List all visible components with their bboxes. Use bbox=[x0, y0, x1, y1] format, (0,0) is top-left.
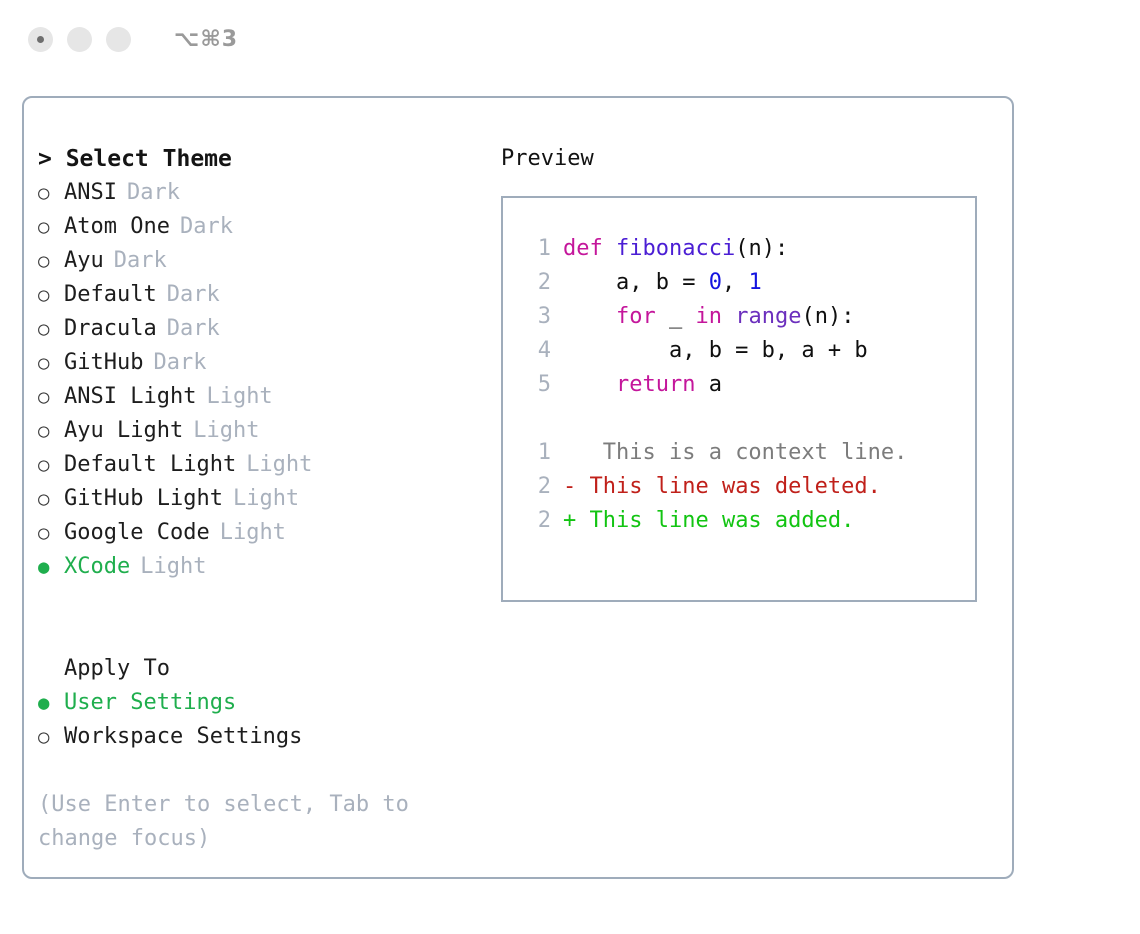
token-plain: a, b = b, a + b bbox=[563, 338, 868, 363]
diff-text: + This line was added. bbox=[563, 504, 854, 538]
radio-selected-icon: ● bbox=[38, 686, 64, 720]
theme-name: Ayu bbox=[64, 244, 104, 278]
apply-to-option-workspace-settings[interactable]: ○Workspace Settings bbox=[38, 720, 478, 754]
theme-name: Ayu Light bbox=[64, 414, 183, 448]
token-fn: fibonacci bbox=[616, 236, 735, 261]
code-text: for _ in range(n): bbox=[563, 300, 854, 334]
token-plain: (n): bbox=[801, 304, 854, 329]
token-plain: _ bbox=[656, 304, 696, 329]
radio-unselected-icon: ○ bbox=[38, 210, 64, 244]
apply-to-label: Workspace Settings bbox=[64, 720, 302, 754]
theme-name: GitHub Light bbox=[64, 482, 223, 516]
token-kw: def bbox=[563, 236, 616, 261]
token-plain bbox=[722, 304, 735, 329]
radio-unselected-icon: ○ bbox=[38, 482, 64, 516]
code-line: 5 return a bbox=[503, 368, 975, 402]
radio-unselected-icon: ○ bbox=[38, 448, 64, 482]
theme-list-column: > Select Theme ○ANSIDark○Atom OneDark○Ay… bbox=[38, 142, 478, 856]
code-line: 3 for _ in range(n): bbox=[503, 300, 975, 334]
theme-option-default[interactable]: ○DefaultDark bbox=[38, 278, 478, 312]
token-plain bbox=[563, 304, 616, 329]
theme-name: GitHub bbox=[64, 346, 143, 380]
window-dot-third[interactable] bbox=[106, 27, 131, 52]
panel-columns: > Select Theme ○ANSIDark○Atom OneDark○Ay… bbox=[24, 98, 1012, 877]
radio-unselected-icon: ○ bbox=[38, 244, 64, 278]
code-text: return a bbox=[563, 368, 722, 402]
token-kw: in bbox=[695, 304, 722, 329]
diff-sign bbox=[563, 440, 576, 465]
select-theme-header: > Select Theme bbox=[38, 142, 478, 176]
apply-to-list: ●User Settings○Workspace Settings bbox=[38, 686, 478, 754]
keyboard-hint: (Use Enter to select, Tab to change focu… bbox=[38, 788, 448, 856]
token-kw: return bbox=[616, 372, 695, 397]
code-spacer bbox=[503, 402, 975, 436]
token-plain: (n): bbox=[735, 236, 788, 261]
apply-to-label: User Settings bbox=[64, 686, 236, 720]
preview-column: Preview 1def fibonacci(n):2 a, b = 0, 13… bbox=[501, 142, 1001, 602]
diff-line-add: 2+ This line was added. bbox=[503, 504, 975, 538]
diff-line-del: 2- This line was deleted. bbox=[503, 470, 975, 504]
line-number: 3 bbox=[521, 300, 551, 334]
theme-option-ayu[interactable]: ○AyuDark bbox=[38, 244, 478, 278]
token-plain: a bbox=[695, 372, 722, 397]
diff-sample: 1 This is a context line.2- This line wa… bbox=[503, 436, 975, 538]
token-call: range bbox=[735, 304, 801, 329]
theme-name: Google Code bbox=[64, 516, 210, 550]
theme-option-xcode[interactable]: ●XCodeLight bbox=[38, 550, 478, 584]
code-text: def fibonacci(n): bbox=[563, 232, 788, 266]
apply-to-option-user-settings[interactable]: ●User Settings bbox=[38, 686, 478, 720]
diff-text: This is a context line. bbox=[563, 436, 907, 470]
token-num: 1 bbox=[748, 270, 761, 295]
theme-kind-label: Dark bbox=[153, 346, 206, 380]
theme-option-github-light[interactable]: ○GitHub LightLight bbox=[38, 482, 478, 516]
theme-name: Default bbox=[64, 278, 157, 312]
theme-option-atom-one[interactable]: ○Atom OneDark bbox=[38, 210, 478, 244]
window-controls bbox=[28, 27, 131, 52]
title-bar: ⌥⌘3 bbox=[0, 0, 1140, 78]
token-plain: , bbox=[722, 270, 749, 295]
theme-option-default-light[interactable]: ○Default LightLight bbox=[38, 448, 478, 482]
code-sample: 1def fibonacci(n):2 a, b = 0, 13 for _ i… bbox=[503, 232, 975, 402]
theme-picker-panel: > Select Theme ○ANSIDark○Atom OneDark○Ay… bbox=[22, 96, 1014, 879]
diff-content: This line was added. bbox=[576, 508, 854, 533]
theme-kind-label: Light bbox=[193, 414, 259, 448]
radio-selected-icon: ● bbox=[38, 550, 64, 584]
code-line: 2 a, b = 0, 1 bbox=[503, 266, 975, 300]
theme-kind-label: Light bbox=[140, 550, 206, 584]
line-number: 5 bbox=[521, 368, 551, 402]
theme-name: ANSI bbox=[64, 176, 117, 210]
radio-unselected-icon: ○ bbox=[38, 346, 64, 380]
token-kw: for bbox=[616, 304, 656, 329]
apply-to-header: Apply To bbox=[38, 652, 478, 686]
token-plain bbox=[563, 372, 616, 397]
line-number: 2 bbox=[521, 266, 551, 300]
theme-kind-label: Dark bbox=[127, 176, 180, 210]
token-plain: a, b = bbox=[563, 270, 709, 295]
line-number: 1 bbox=[521, 232, 551, 266]
code-line: 4 a, b = b, a + b bbox=[503, 334, 975, 368]
window-dot-second[interactable] bbox=[67, 27, 92, 52]
theme-name: Default Light bbox=[64, 448, 236, 482]
radio-unselected-icon: ○ bbox=[38, 414, 64, 448]
theme-kind-label: Dark bbox=[167, 312, 220, 346]
keyboard-shortcut-label: ⌥⌘3 bbox=[174, 27, 238, 52]
diff-sign: + bbox=[563, 508, 576, 533]
theme-name: XCode bbox=[64, 550, 130, 584]
theme-option-github[interactable]: ○GitHubDark bbox=[38, 346, 478, 380]
diff-sign: - bbox=[563, 474, 576, 499]
theme-kind-label: Dark bbox=[167, 278, 220, 312]
theme-kind-label: Dark bbox=[180, 210, 233, 244]
theme-kind-label: Light bbox=[246, 448, 312, 482]
code-line: 1def fibonacci(n): bbox=[503, 232, 975, 266]
theme-kind-label: Dark bbox=[114, 244, 167, 278]
theme-list: ○ANSIDark○Atom OneDark○AyuDark○DefaultDa… bbox=[38, 176, 478, 584]
radio-unselected-icon: ○ bbox=[38, 380, 64, 414]
theme-option-dracula[interactable]: ○DraculaDark bbox=[38, 312, 478, 346]
line-number: 1 bbox=[521, 436, 551, 470]
app-window: ⌥⌘3 > Select Theme ○ANSIDark○Atom OneDar… bbox=[0, 0, 1140, 934]
window-dot-active[interactable] bbox=[28, 27, 53, 52]
radio-unselected-icon: ○ bbox=[38, 720, 64, 754]
theme-option-ansi-light[interactable]: ○ANSI LightLight bbox=[38, 380, 478, 414]
active-dot-indicator bbox=[37, 36, 44, 43]
radio-unselected-icon: ○ bbox=[38, 176, 64, 210]
theme-option-google-code[interactable]: ○Google CodeLight bbox=[38, 516, 478, 550]
theme-kind-label: Light bbox=[206, 380, 272, 414]
code-text: a, b = b, a + b bbox=[563, 334, 868, 368]
radio-unselected-icon: ○ bbox=[38, 278, 64, 312]
line-number: 2 bbox=[521, 470, 551, 504]
theme-option-ayu-light[interactable]: ○Ayu LightLight bbox=[38, 414, 478, 448]
theme-name: Atom One bbox=[64, 210, 170, 244]
diff-line-ctx: 1 This is a context line. bbox=[503, 436, 975, 470]
diff-content: This line was deleted. bbox=[576, 474, 881, 499]
line-number: 4 bbox=[521, 334, 551, 368]
theme-kind-label: Light bbox=[233, 482, 299, 516]
diff-content: This is a context line. bbox=[576, 440, 907, 465]
theme-option-ansi[interactable]: ○ANSIDark bbox=[38, 176, 478, 210]
theme-name: ANSI Light bbox=[64, 380, 196, 414]
theme-name: Dracula bbox=[64, 312, 157, 346]
preview-box: 1def fibonacci(n):2 a, b = 0, 13 for _ i… bbox=[501, 196, 977, 602]
code-text: a, b = 0, 1 bbox=[563, 266, 762, 300]
diff-text: - This line was deleted. bbox=[563, 470, 881, 504]
theme-kind-label: Light bbox=[220, 516, 286, 550]
radio-unselected-icon: ○ bbox=[38, 312, 64, 346]
radio-unselected-icon: ○ bbox=[38, 516, 64, 550]
line-number: 2 bbox=[521, 504, 551, 538]
token-num: 0 bbox=[709, 270, 722, 295]
preview-title: Preview bbox=[501, 142, 1001, 176]
